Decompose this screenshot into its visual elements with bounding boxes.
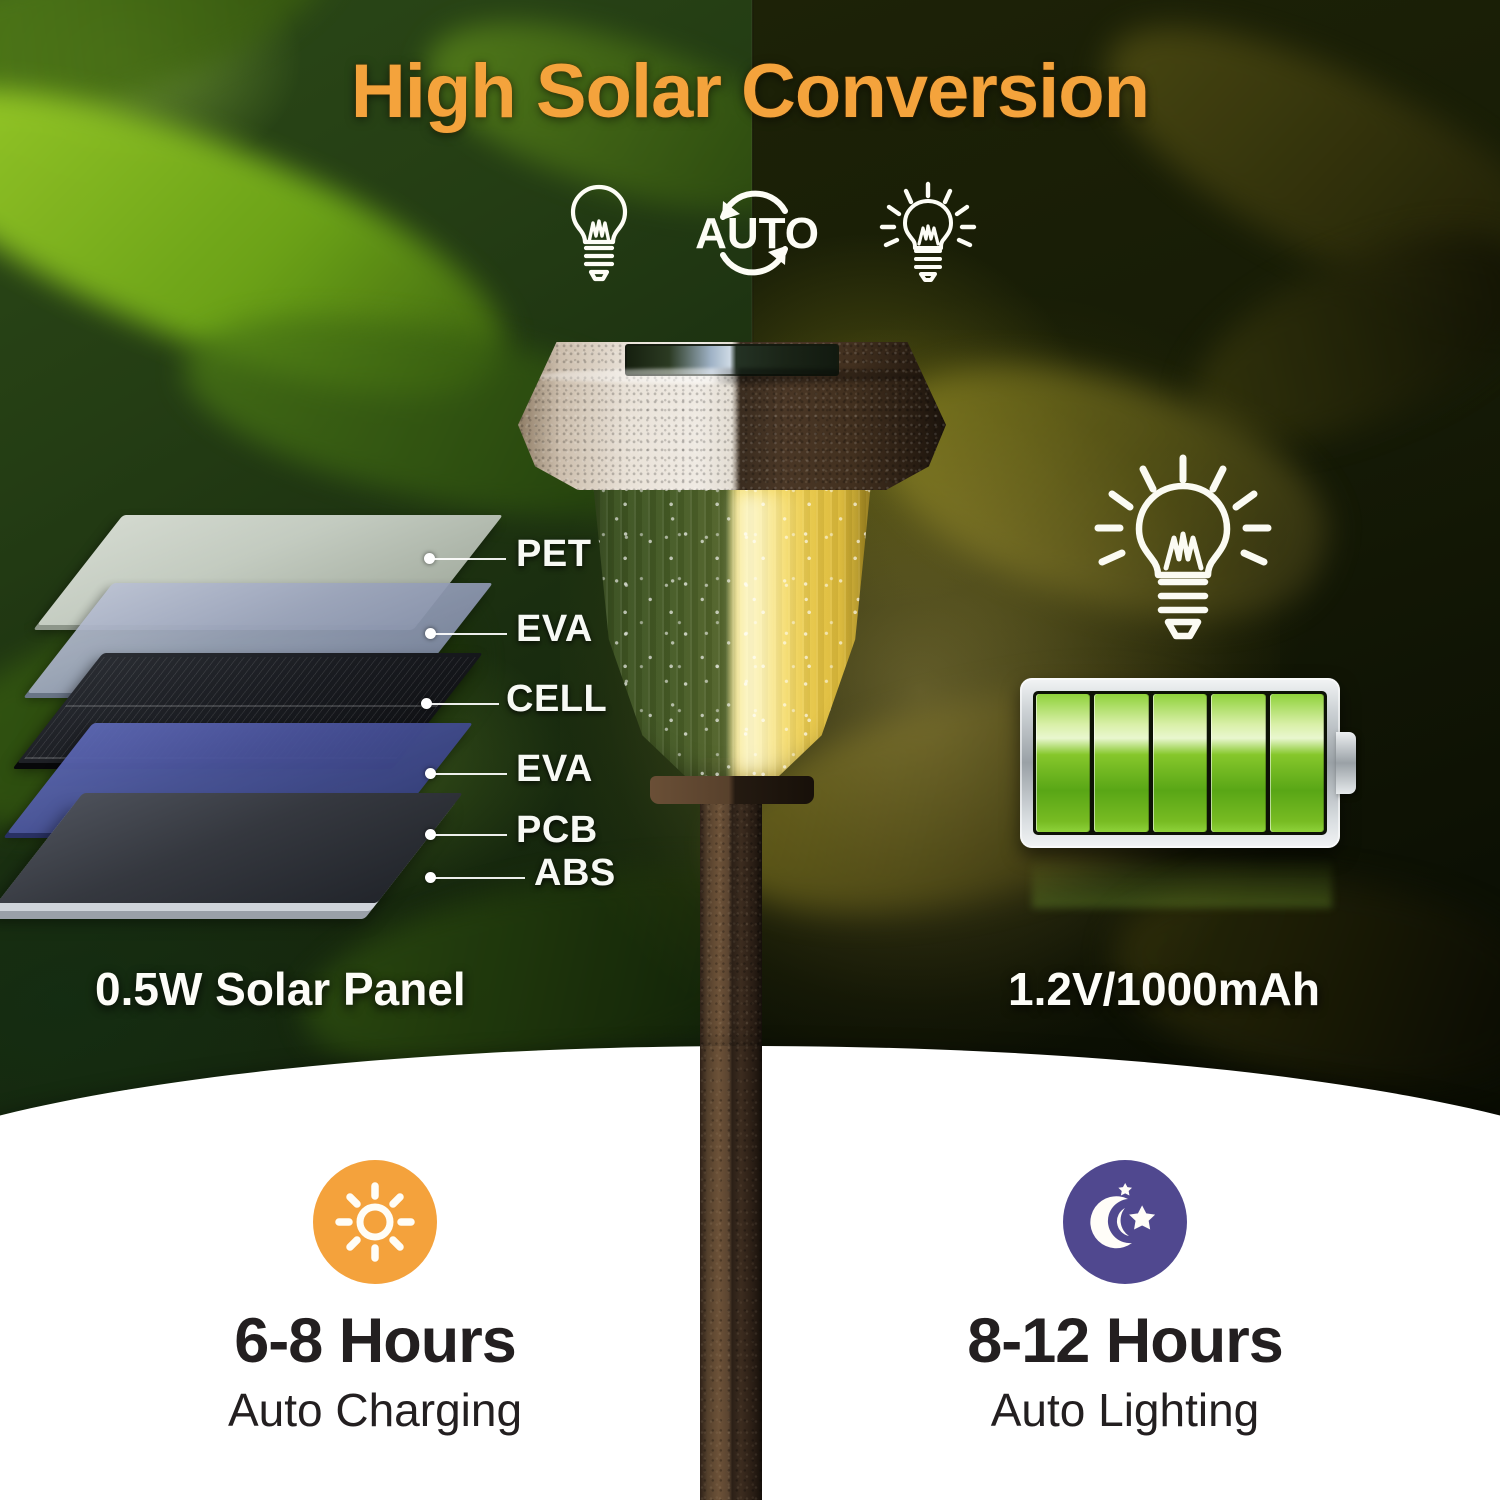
solar-panel-caption: 0.5W Solar Panel — [95, 962, 466, 1016]
layer-label-cell: CELL — [506, 678, 607, 721]
battery-caption: 1.2V/1000mAh — [1008, 962, 1320, 1016]
callout-line — [434, 558, 506, 560]
bulb-on-icon — [876, 181, 980, 285]
callout-line — [435, 834, 507, 836]
battery-full-icon — [1020, 678, 1340, 848]
battery-segment — [1153, 694, 1207, 832]
bulb-off-icon — [560, 181, 638, 285]
feature-charging: 6-8 Hours Auto Charging — [0, 1160, 750, 1500]
cap-rim-highlight — [535, 368, 929, 384]
layer-label-abs: ABS — [534, 852, 616, 895]
sun-icon — [313, 1160, 437, 1284]
callout-line — [431, 703, 499, 705]
layer-label-pcb: PCB — [516, 809, 598, 852]
feature-subtitle: Auto Charging — [228, 1387, 522, 1433]
moon-stars-icon — [1063, 1160, 1187, 1284]
feature-lighting: 8-12 Hours Auto Lighting — [750, 1160, 1500, 1500]
layer-label-eva-bottom: EVA — [516, 748, 593, 791]
battery-segment — [1270, 694, 1324, 832]
callout-line — [435, 877, 525, 879]
battery-reflection — [1032, 856, 1332, 908]
layer-label-pet: PET — [516, 533, 591, 576]
light-bulb-on-icon — [1088, 452, 1278, 653]
page-title: High Solar Conversion — [0, 48, 1500, 135]
callout-line — [435, 633, 507, 635]
layer-pcb-abs — [40, 793, 420, 903]
lamp-cap — [518, 342, 946, 490]
auto-cycle-icon: AUTO — [682, 181, 832, 285]
battery-terminal — [1336, 732, 1356, 794]
feature-title: 8-12 Hours — [967, 1310, 1283, 1373]
callout-line — [435, 773, 507, 775]
battery-cells — [1033, 691, 1327, 835]
battery-segment — [1211, 694, 1265, 832]
battery-segment — [1094, 694, 1148, 832]
layer-label-eva-top: EVA — [516, 608, 593, 651]
feature-subtitle: Auto Lighting — [991, 1387, 1260, 1433]
shade-base-ring — [650, 776, 814, 804]
infographic-canvas: High Solar Conversion AUTO — [0, 0, 1500, 1500]
auto-label: AUTO — [695, 209, 819, 258]
battery-segment — [1036, 694, 1090, 832]
feature-title: 6-8 Hours — [234, 1310, 516, 1373]
feature-row: 6-8 Hours Auto Charging 8-12 Hours Auto … — [0, 1160, 1500, 1500]
auto-mode-row: AUTO — [560, 178, 980, 288]
